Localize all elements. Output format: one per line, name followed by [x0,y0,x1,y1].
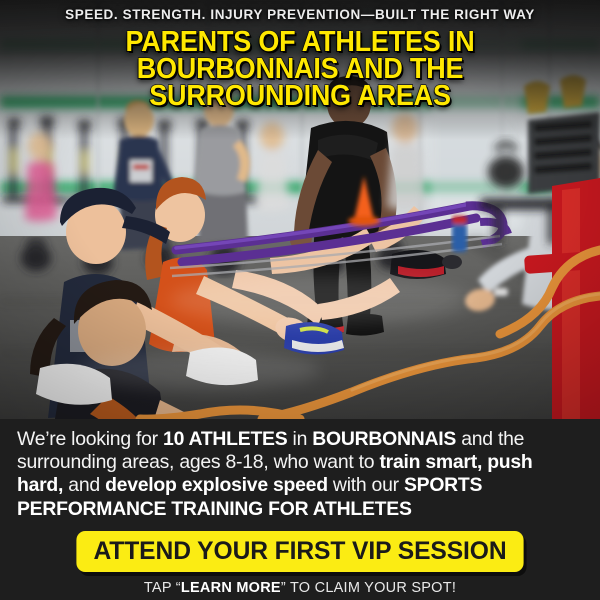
eyebrow-tagline: SPEED. STRENGTH. INJURY PREVENTION—BUILT… [0,8,600,23]
headline-block: SPEED. STRENGTH. INJURY PREVENTION—BUILT… [0,0,600,110]
fitness-ad-creative: SPEED. STRENGTH. INJURY PREVENTION—BUILT… [0,0,600,600]
page-title: PARENTS OF ATHLETES IN BOURBONNAIS AND T… [34,29,566,110]
attend-vip-session-button[interactable]: ATTEND YOUR FIRST VIP SESSION [76,531,523,572]
cta-container: ATTEND YOUR FIRST VIP SESSION [0,531,600,572]
body-copy: We’re looking for 10 ATHLETES in BOURBON… [0,419,600,521]
sub-cta-text: TAP “LEARN MORE” TO CLAIM YOUR SPOT! [0,580,600,596]
offer-panel: We’re looking for 10 ATHLETES in BOURBON… [0,419,600,600]
